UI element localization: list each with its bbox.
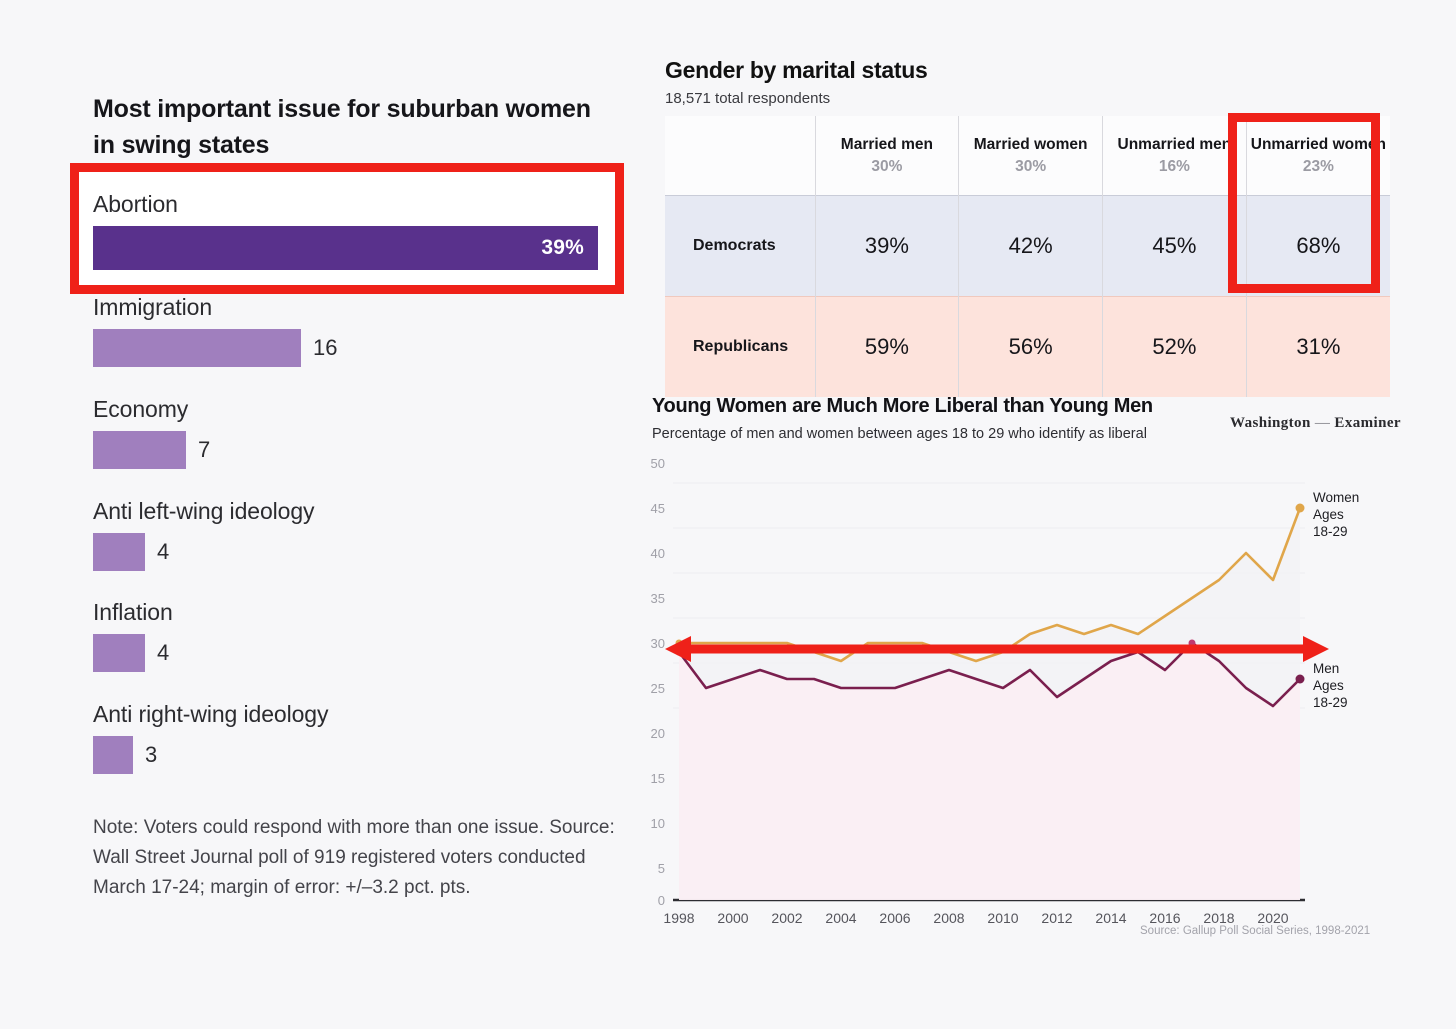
table-col-header-unmarried-women: Unmarried women 23% — [1246, 116, 1390, 196]
brand-left: Washington — [1230, 415, 1311, 431]
brand-dash: — — [1315, 415, 1330, 431]
col-name: Unmarried men — [1104, 136, 1245, 154]
table-cell: 45% — [1103, 196, 1247, 297]
col-share: 16% — [1104, 158, 1245, 176]
bar-fill — [93, 533, 145, 571]
svg-text:2004: 2004 — [825, 910, 856, 926]
svg-text:Ages: Ages — [1313, 678, 1344, 693]
table-subtitle: 18,571 total respondents — [665, 90, 830, 107]
bar-chart-note: Note: Voters could respond with more tha… — [93, 813, 633, 903]
table-col-header: Married men 30% — [815, 116, 959, 196]
svg-text:0: 0 — [658, 893, 665, 908]
brand-right: Examiner — [1334, 415, 1401, 431]
col-share: 30% — [960, 158, 1101, 176]
row-label: Republicans — [665, 297, 815, 398]
line-chart-source: Source: Gallup Poll Social Series, 1998-… — [1140, 925, 1370, 937]
svg-text:35: 35 — [651, 591, 665, 606]
svg-text:2006: 2006 — [879, 910, 910, 926]
table-cell: 56% — [959, 297, 1103, 398]
col-name: Married men — [817, 136, 958, 154]
svg-text:2018: 2018 — [1203, 910, 1234, 926]
bar-value: 4 — [157, 539, 169, 565]
table-title: Gender by marital status — [665, 57, 928, 84]
svg-text:50: 50 — [651, 456, 665, 471]
y-axis-ticks: 50 45 40 35 30 25 20 15 10 5 0 — [651, 456, 665, 908]
bar-label: Abortion — [93, 192, 633, 217]
table-cell-highlighted: 68% — [1246, 196, 1390, 297]
bar-value: 4 — [157, 640, 169, 666]
bar-label: Anti right-wing ideology — [93, 702, 633, 727]
bar-track: 39% — [93, 226, 633, 270]
bar-track: 3 — [93, 736, 633, 774]
washington-examiner-logo: Washington — Examiner — [1230, 415, 1401, 432]
svg-text:2020: 2020 — [1257, 910, 1288, 926]
bar-track: 16 — [93, 329, 633, 367]
cell-value: 59% — [865, 334, 909, 359]
cell-value: 68% — [1296, 233, 1340, 258]
svg-text:2000: 2000 — [717, 910, 748, 926]
gender-by-marital-status-table: Married men 30% Married women 30% Unmarr… — [665, 116, 1390, 397]
table-col-header: Unmarried men 16% — [1103, 116, 1247, 196]
row-label-text: Republicans — [693, 338, 788, 355]
women-series-endpoint — [1296, 504, 1305, 513]
cell-value: 39% — [865, 233, 909, 258]
svg-text:2002: 2002 — [771, 910, 802, 926]
bar-value: 39% — [541, 236, 584, 260]
svg-text:25: 25 — [651, 681, 665, 696]
bar-label: Anti left-wing ideology — [93, 499, 633, 524]
svg-text:2016: 2016 — [1149, 910, 1180, 926]
bar-track: 7 — [93, 431, 633, 469]
svg-text:45: 45 — [651, 501, 665, 516]
bar-track: 4 — [93, 533, 633, 571]
col-share: 30% — [817, 158, 958, 176]
svg-text:2010: 2010 — [987, 910, 1018, 926]
table-cell: 42% — [959, 196, 1103, 297]
bar-track: 4 — [93, 634, 633, 672]
cell-value: 52% — [1152, 334, 1196, 359]
bar-label: Immigration — [93, 295, 633, 320]
bar-row-inflation: Inflation 4 — [93, 600, 633, 672]
women-series-label: Women Ages 18-29 — [1313, 490, 1359, 539]
table-cell: 39% — [815, 196, 959, 297]
bar-chart-title: Most important issue for suburban women … — [93, 92, 613, 163]
svg-text:Women: Women — [1313, 490, 1359, 505]
table-corner-cell — [665, 116, 815, 196]
svg-text:40: 40 — [651, 546, 665, 561]
bar-fill — [93, 329, 301, 367]
bar-row-anti-right-wing-ideology: Anti right-wing ideology 3 — [93, 702, 633, 774]
line-chart-title: Young Women are Much More Liberal than Y… — [652, 395, 1153, 418]
bar-row-anti-left-wing-ideology: Anti left-wing ideology 4 — [93, 499, 633, 571]
cell-value: 42% — [1009, 233, 1053, 258]
cell-value: 56% — [1009, 334, 1053, 359]
table-row: Republicans 59% 56% 52% 31% — [665, 297, 1390, 398]
row-label: Democrats — [665, 196, 815, 297]
line-chart-panel: Young Women are Much More Liberal than Y… — [645, 395, 1405, 965]
bar-row-abortion: Abortion 39% — [93, 192, 633, 270]
col-share: 23% — [1248, 158, 1389, 176]
svg-text:1998: 1998 — [663, 910, 694, 926]
line-chart-subtitle: Percentage of men and women between ages… — [652, 426, 1147, 442]
table-header-row: Married men 30% Married women 30% Unmarr… — [665, 116, 1390, 196]
svg-text:2012: 2012 — [1041, 910, 1072, 926]
cell-value: 45% — [1152, 233, 1196, 258]
svg-text:18-29: 18-29 — [1313, 695, 1348, 710]
bar-value: 3 — [145, 742, 157, 768]
bar-fill — [93, 431, 186, 469]
svg-text:Men: Men — [1313, 661, 1339, 676]
bar-label: Inflation — [93, 600, 633, 625]
men-series-label: Men Ages 18-29 — [1313, 661, 1348, 710]
bar-value: 16 — [313, 335, 337, 361]
svg-text:18-29: 18-29 — [1313, 524, 1348, 539]
bar-fill: 39% — [93, 226, 598, 270]
table-cell: 59% — [815, 297, 959, 398]
col-name: Unmarried women — [1248, 136, 1389, 154]
table-col-header: Married women 30% — [959, 116, 1103, 196]
bar-row-immigration: Immigration 16 — [93, 295, 633, 367]
bar-row-economy: Economy 7 — [93, 397, 633, 469]
svg-text:2014: 2014 — [1095, 910, 1126, 926]
bar-fill — [93, 634, 145, 672]
bar-chart-panel: Most important issue for suburban women … — [0, 0, 640, 1029]
men-series-endpoint — [1296, 675, 1305, 684]
table-row: Democrats 39% 42% 45% 68% — [665, 196, 1390, 297]
svg-text:30: 30 — [651, 636, 665, 651]
liberal-identification-line-chart: 50 45 40 35 30 25 20 15 10 5 0 — [645, 450, 1400, 930]
svg-text:10: 10 — [651, 816, 665, 831]
col-name: Married women — [960, 136, 1101, 154]
svg-text:5: 5 — [658, 861, 665, 876]
bar-fill — [93, 736, 133, 774]
svg-text:2008: 2008 — [933, 910, 964, 926]
bar-label: Economy — [93, 397, 633, 422]
svg-text:20: 20 — [651, 726, 665, 741]
svg-text:Ages: Ages — [1313, 507, 1344, 522]
bar-value: 7 — [198, 437, 210, 463]
table-cell: 52% — [1103, 297, 1247, 398]
table-cell: 31% — [1246, 297, 1390, 398]
x-axis-ticks: 1998 2000 2002 2004 2006 2008 2010 2012 … — [663, 910, 1288, 926]
svg-text:15: 15 — [651, 771, 665, 786]
row-label-text: Democrats — [693, 237, 776, 254]
cell-value: 31% — [1296, 334, 1340, 359]
